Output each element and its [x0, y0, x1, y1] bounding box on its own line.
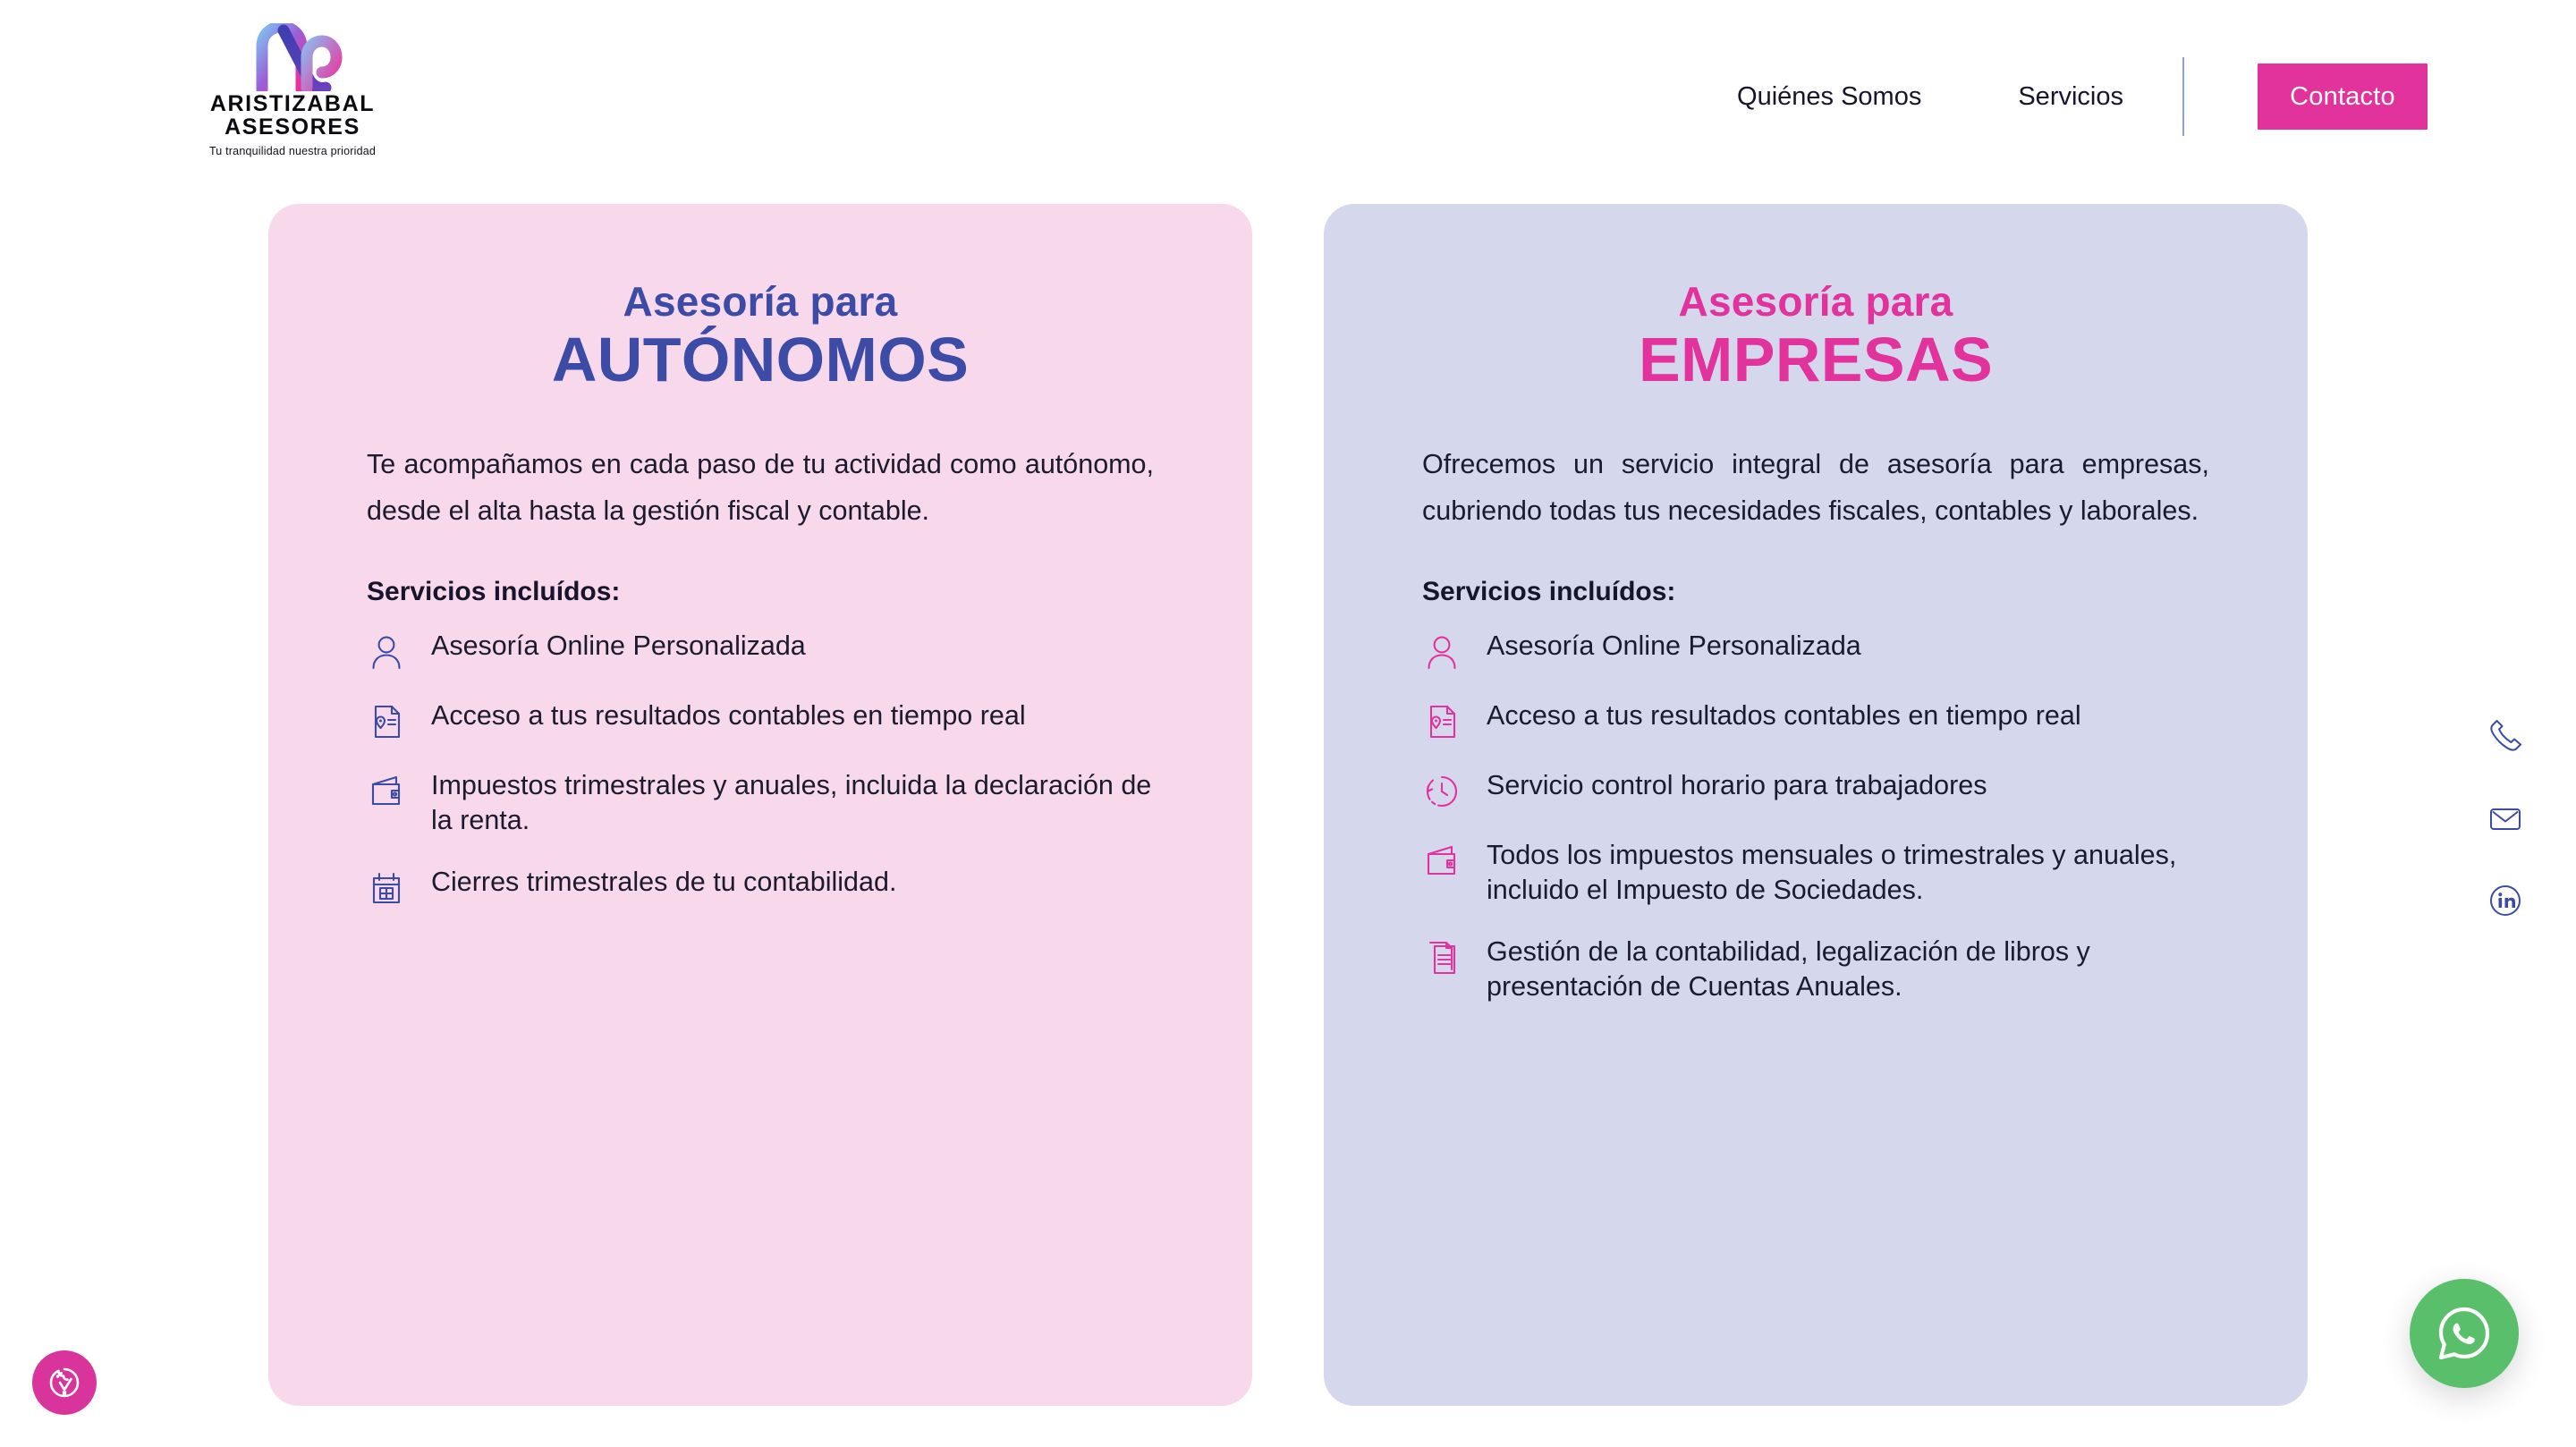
envelope-icon: [2485, 798, 2526, 839]
user-outline-icon: [367, 632, 406, 672]
logo-wordmark-line1: ARISTIZABAL: [191, 93, 394, 116]
card-empresas-title: Asesoría para EMPRESAS: [1422, 204, 2209, 391]
card-autonomos-intro: Te acompañamos en cada paso de tu activi…: [367, 442, 1154, 534]
card-autonomos-subhead: Servicios incluídos:: [367, 577, 1154, 607]
feature-text: Cierres trimestrales de tu contabilidad.: [431, 865, 896, 900]
logo-wordmark: ARISTIZABAL ASESORES: [191, 93, 394, 139]
linkedin-icon: [2485, 880, 2526, 921]
primary-navigation: Quiénes Somos Servicios Contacto: [1733, 0, 2576, 193]
feature-text: Asesoría Online Personalizada: [1487, 629, 1861, 664]
card-empresas-intro: Ofrecemos un servicio integral de asesor…: [1422, 442, 2209, 534]
social-contact-rail: [2485, 715, 2526, 921]
calendar-icon: [367, 868, 406, 908]
social-linkedin[interactable]: [2485, 880, 2526, 921]
feature-text: Todos los impuestos mensuales o trimestr…: [1487, 838, 2209, 908]
feature-text: Servicio control horario para trabajador…: [1487, 768, 1987, 803]
feature-text: Acceso a tus resultados contables en tie…: [1487, 698, 2081, 733]
card-empresas-title-big: EMPRESAS: [1422, 328, 2209, 391]
social-email[interactable]: [2485, 798, 2526, 839]
card-empresas-feature-list: Asesoría Online Personalizada Acceso a t…: [1422, 629, 2209, 1004]
document-pin-icon: [367, 702, 406, 741]
cookie-settings-button[interactable]: [32, 1350, 97, 1415]
card-empresas-subhead: Servicios incluídos:: [1422, 577, 2209, 607]
feature-text: Impuestos trimestrales y anuales, inclui…: [431, 768, 1154, 838]
feature-text: Acceso a tus resultados contables en tie…: [431, 698, 1026, 733]
logo-wordmark-line2: ASESORES: [191, 116, 394, 140]
card-empresas: Asesoría para EMPRESAS Ofrecemos un serv…: [1324, 204, 2308, 1406]
services-section: Asesoría para AUTÓNOMOS Te acompañamos e…: [0, 0, 2576, 1447]
card-empresas-title-small: Asesoría para: [1422, 281, 2209, 322]
card-autonomos-feature-list: Asesoría Online Personalizada Acceso a t…: [367, 629, 1154, 908]
gradient-m-logo-icon: [191, 23, 394, 91]
clock-rewind-icon: [1422, 772, 1462, 811]
whatsapp-icon: [2432, 1301, 2496, 1366]
site-header: ARISTIZABAL ASESORES Tu tranquilidad nue…: [0, 0, 2576, 193]
card-autonomos-title-small: Asesoría para: [367, 281, 1154, 322]
feature-item: Cierres trimestrales de tu contabilidad.: [367, 865, 1154, 908]
nav-divider: [2182, 57, 2184, 136]
feature-item: Asesoría Online Personalizada: [1422, 629, 2209, 672]
documents-stack-icon: [1422, 938, 1462, 977]
feature-item: Acceso a tus resultados contables en tie…: [1422, 698, 2209, 741]
user-outline-icon: [1422, 632, 1462, 672]
feature-item: Impuestos trimestrales y anuales, inclui…: [367, 768, 1154, 838]
card-autonomos-title-big: AUTÓNOMOS: [367, 328, 1154, 391]
feature-item: Servicio control horario para trabajador…: [1422, 768, 2209, 811]
phone-icon: [2485, 715, 2526, 757]
wallet-icon: [1422, 842, 1462, 881]
nav-servicios[interactable]: Servicios: [2014, 75, 2127, 119]
card-autonomos: Asesoría para AUTÓNOMOS Te acompañamos e…: [268, 204, 1252, 1406]
document-pin-icon: [1422, 702, 1462, 741]
feature-text: Asesoría Online Personalizada: [431, 629, 806, 664]
social-phone[interactable]: [2485, 715, 2526, 757]
nav-quienes-somos[interactable]: Quiénes Somos: [1733, 75, 1925, 119]
contacto-button[interactable]: Contacto: [2258, 63, 2428, 130]
wallet-icon: [367, 772, 406, 811]
cookie-consent-icon: [45, 1363, 84, 1402]
feature-text: Gestión de la contabilidad, legalización…: [1487, 935, 2209, 1004]
feature-item: Todos los impuestos mensuales o trimestr…: [1422, 838, 2209, 908]
feature-item: Asesoría Online Personalizada: [367, 629, 1154, 672]
logo-tagline: Tu tranquilidad nuestra prioridad: [191, 145, 394, 157]
whatsapp-chat-button[interactable]: [2410, 1279, 2519, 1388]
card-autonomos-title: Asesoría para AUTÓNOMOS: [367, 204, 1154, 391]
feature-item: Acceso a tus resultados contables en tie…: [367, 698, 1154, 741]
site-logo[interactable]: ARISTIZABAL ASESORES Tu tranquilidad nue…: [191, 23, 394, 157]
feature-item: Gestión de la contabilidad, legalización…: [1422, 935, 2209, 1004]
